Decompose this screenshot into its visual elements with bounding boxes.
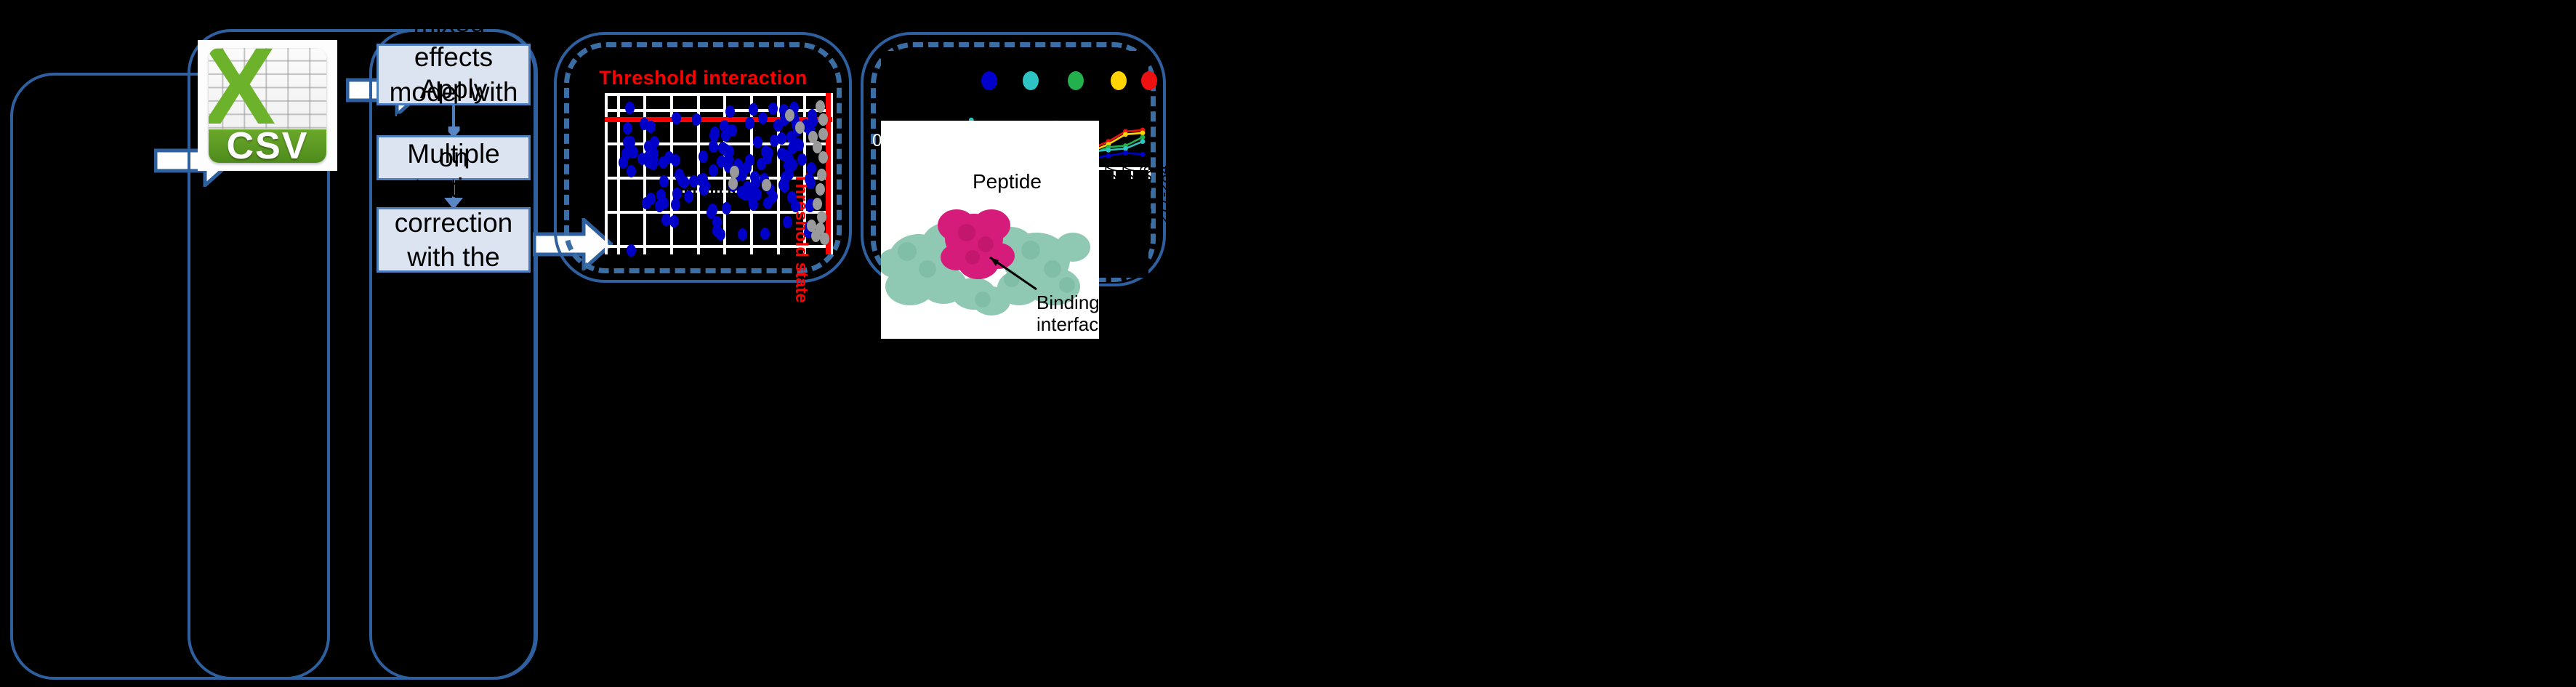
scatter-point	[807, 162, 816, 174]
csv-icon-card: X CSV	[209, 48, 326, 163]
scatter-point	[818, 128, 828, 140]
scatter-point	[797, 153, 807, 166]
scatter-point	[760, 228, 770, 240]
scatter-point	[684, 190, 693, 203]
binding-interface-annotation: Binding interface	[1037, 292, 1099, 336]
process-box-line: Multiple testing	[386, 137, 521, 206]
peptide-tick-label: 241-257	[1119, 165, 1138, 224]
scatter-point	[818, 151, 828, 164]
scatter-point	[738, 228, 747, 241]
scatter-point	[764, 147, 773, 159]
scatter-point	[763, 197, 773, 209]
scatter-point	[816, 100, 825, 113]
scatter-point	[817, 169, 826, 181]
scatter-point	[699, 150, 708, 163]
scatter-point	[648, 158, 658, 170]
emphasis-term: BH	[434, 276, 472, 306]
scatter-point	[783, 216, 792, 228]
scatter-point	[730, 166, 739, 178]
chart-marker	[1123, 132, 1128, 137]
peptide-tick-label: 258-266	[1137, 165, 1156, 224]
process-box-line: Fit a linear mixed-	[386, 0, 521, 40]
chart-marker	[1123, 150, 1128, 156]
peptide-axis-title-visible: Peptide	[973, 170, 1042, 193]
scatter-point	[785, 109, 794, 121]
scatter-point	[753, 136, 762, 148]
scatter-point	[768, 103, 778, 115]
text-run: Multiple testing	[407, 139, 500, 203]
text-run: correction	[395, 208, 512, 238]
scatter-point	[646, 193, 656, 205]
scatter-point	[650, 136, 659, 148]
scatter-point	[743, 181, 752, 193]
emphasis-term: Wald tests	[387, 108, 520, 138]
scatter-point	[659, 175, 669, 188]
scatter-point	[627, 165, 636, 177]
scatter-point	[813, 198, 822, 210]
peptide-tick-label: 277-284	[1154, 165, 1173, 224]
chart-marker	[1123, 146, 1128, 151]
binding-interface-line1: Binding	[1037, 292, 1099, 314]
scatter-point	[791, 200, 800, 212]
chart-marker	[1106, 153, 1111, 158]
scatter-point	[749, 103, 758, 116]
chart-marker	[1140, 139, 1146, 144]
scatter-point	[692, 113, 701, 126]
scatter-point	[777, 132, 786, 145]
peptide-figure: 0.0 1-1528-4463-7367-7581-101122-129135-…	[881, 51, 1148, 278]
peptide-tick-label: 218-237	[1102, 165, 1121, 224]
text-run: with the	[407, 242, 500, 272]
text-run: procedure	[393, 311, 515, 341]
scatter-point	[709, 164, 718, 177]
protein-structure-card: Peptide	[881, 121, 1099, 339]
csv-icon-letter: X	[212, 50, 266, 121]
scatter-point	[745, 117, 754, 129]
scatter-point	[696, 174, 706, 186]
scatter-point	[762, 179, 771, 191]
scatter-point	[793, 138, 802, 150]
scatter-point	[671, 198, 680, 211]
scatter-point	[817, 211, 826, 223]
scatter-point	[745, 154, 754, 166]
scatter-plot-title: Threshold interaction	[574, 67, 832, 89]
scatter-point	[807, 220, 816, 232]
scatter-point	[725, 145, 734, 158]
scatter-point	[627, 244, 636, 257]
scatter-point	[777, 148, 786, 160]
scatter-point	[816, 183, 825, 196]
process-box-line: with the BH procedure	[386, 240, 521, 343]
chart-marker	[1140, 134, 1146, 140]
scatter-point	[720, 120, 729, 132]
chart-marker	[1140, 152, 1146, 157]
scatter-point	[808, 115, 818, 127]
scatter-point	[623, 122, 632, 134]
scatter-point	[716, 228, 725, 241]
scatter-point	[621, 148, 631, 160]
csv-icon-caption: CSV	[209, 129, 326, 163]
process-box-multiple-testing: Multiple testingcorrectionwith the BH pr…	[377, 207, 531, 273]
process-box-text: Multiple testingcorrectionwith the BH pr…	[386, 137, 521, 343]
scatter-point	[795, 121, 805, 134]
scatter-point	[672, 112, 681, 124]
binding-interface-line2: interface	[1037, 314, 1099, 336]
scatter-point	[659, 156, 668, 169]
scatter-point	[709, 140, 718, 153]
scatter-point	[680, 176, 689, 188]
chart-marker	[1106, 148, 1111, 153]
scatter-points-layer	[605, 93, 832, 254]
scatter-point	[806, 177, 816, 189]
scatter-point	[659, 197, 669, 209]
process-box-line: correction	[386, 206, 521, 240]
text-run: Apply	[420, 74, 488, 104]
scatter-point	[818, 113, 828, 126]
scatter-point	[752, 188, 762, 201]
scatter-point	[751, 177, 760, 189]
text-run: Fit a linear mixed-	[391, 0, 517, 38]
csv-file-icon: X CSV	[198, 40, 337, 171]
scatter-point	[672, 188, 682, 200]
scatter-point	[722, 202, 731, 214]
scatter-point	[669, 215, 679, 228]
scatter-point	[625, 102, 635, 114]
scatter-point	[784, 168, 794, 180]
figure-canvas: X CSV Fit a linear mixed-effects model w…	[0, 0, 2576, 687]
scatter-point	[725, 105, 735, 118]
chart-marker	[1140, 130, 1146, 135]
scatter-point	[623, 136, 632, 148]
scatter-point	[758, 112, 768, 124]
scatter-plot: Threshold interaction	[574, 67, 832, 263]
scatter-point	[820, 233, 829, 245]
scatter-point	[728, 177, 738, 190]
